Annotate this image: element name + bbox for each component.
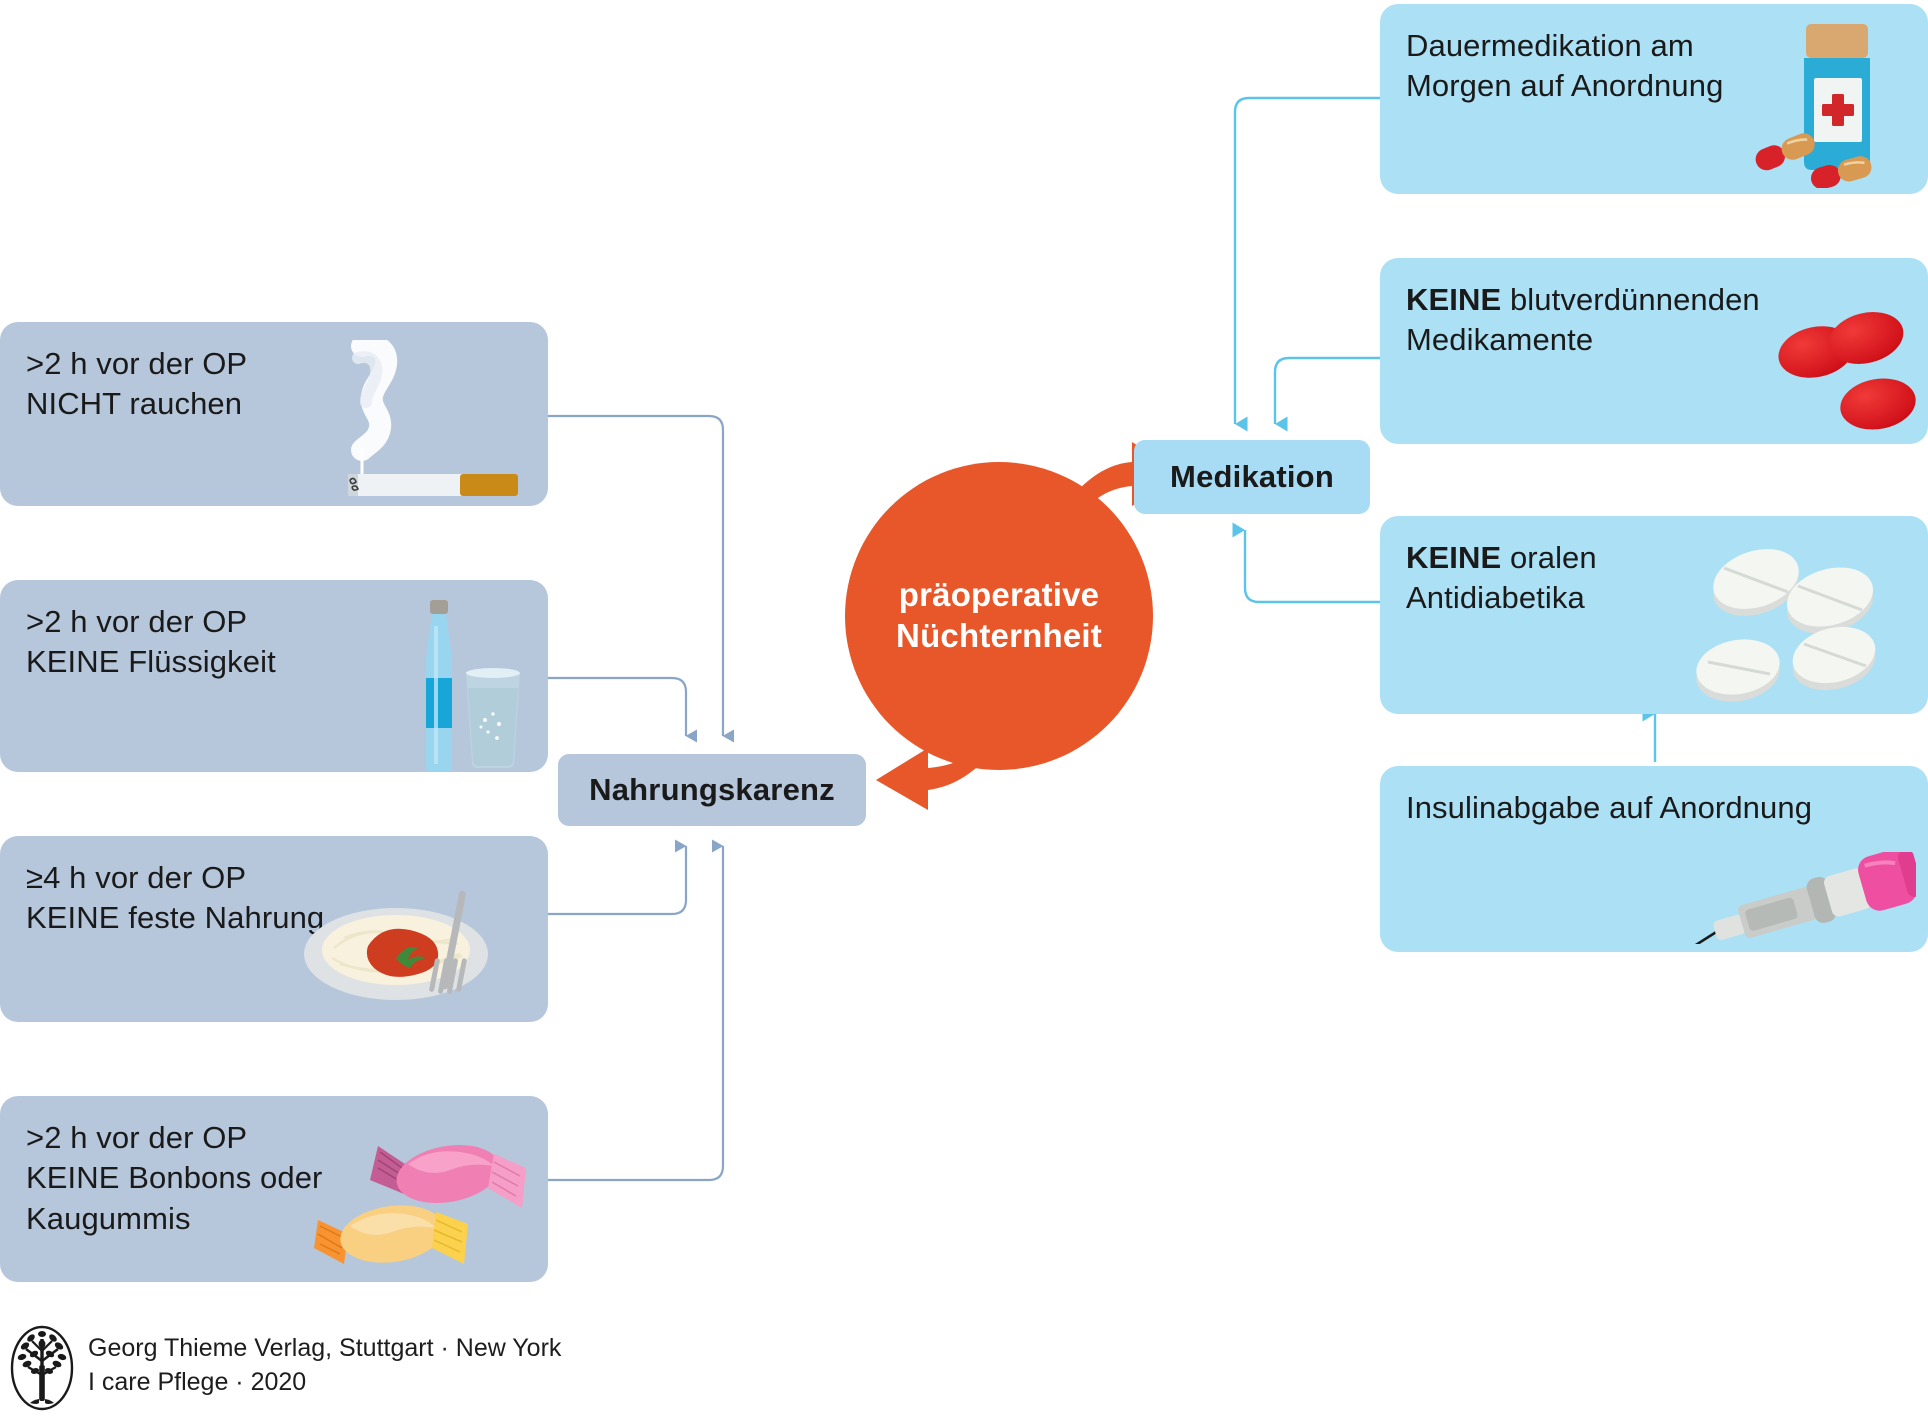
- card-no-liquids[interactable]: >2 h vor der OP KEINE Flüssigkeit: [0, 580, 548, 772]
- thieme-tree-logo: [10, 1325, 74, 1411]
- hub-label: präoperative Nüchternheit: [896, 575, 1102, 657]
- insulin-syringe-icon: [1676, 852, 1916, 944]
- branch-box-nahrungskarenz[interactable]: Nahrungskarenz: [558, 754, 866, 826]
- branch-box-medikation-label: Medikation: [1170, 459, 1334, 495]
- card-no-smoking[interactable]: >2 h vor der OP NICHT rauchen: [0, 322, 548, 506]
- card-no-solid-food[interactable]: ≥4 h vor der OP KEINE feste Nahrung: [0, 836, 548, 1022]
- card-no-solid-food-text: ≥4 h vor der OP KEINE feste Nahrung: [26, 858, 324, 939]
- footer-text: Georg Thieme Verlag, Stuttgart · New Yor…: [88, 1325, 561, 1399]
- card-no-oral-antidiabetics[interactable]: KEINE oralen Antidiabetika: [1380, 516, 1928, 714]
- blood-cells-icon: [1770, 310, 1918, 432]
- card-no-liquids-text: >2 h vor der OP KEINE Flüssigkeit: [26, 602, 276, 683]
- card-no-candy-gum-text: >2 h vor der OP KEINE Bonbons oder Kaugu…: [26, 1118, 322, 1239]
- card-no-candy-gum[interactable]: >2 h vor der OP KEINE Bonbons oder Kaugu…: [0, 1096, 548, 1282]
- card-no-blood-thinners-text: KEINE blutverdünnenden Medikamente: [1406, 280, 1760, 361]
- pill-bottle-icon: [1752, 16, 1918, 188]
- pasta-plate-fork-icon: [300, 862, 516, 1012]
- keine-bold: KEINE: [1406, 540, 1501, 575]
- water-bottle-glass-icon: [380, 596, 548, 774]
- footer: Georg Thieme Verlag, Stuttgart · New Yor…: [10, 1325, 561, 1411]
- cigarette-icon: [300, 340, 548, 506]
- card-insulin-on-order[interactable]: Insulinabgabe auf Anordnung: [1380, 766, 1928, 952]
- keine-bold: KEINE: [1406, 282, 1501, 317]
- card-daily-medication-text: Dauermedikation am Morgen auf Anordnung: [1406, 26, 1723, 107]
- tablets-icon: [1688, 546, 1906, 706]
- card-no-smoking-text: >2 h vor der OP NICHT rauchen: [26, 344, 247, 425]
- branch-box-nahrungskarenz-label: Nahrungskarenz: [589, 772, 835, 808]
- card-insulin-on-order-text: Insulinabgabe auf Anordnung: [1406, 788, 1812, 828]
- branch-box-medikation[interactable]: Medikation: [1134, 440, 1370, 514]
- card-daily-medication[interactable]: Dauermedikation am Morgen auf Anordnung: [1380, 4, 1928, 194]
- card-no-blood-thinners[interactable]: KEINE blutverdünnenden Medikamente: [1380, 258, 1928, 444]
- card-no-oral-antidiabetics-text: KEINE oralen Antidiabetika: [1406, 538, 1597, 619]
- hub-circle: präoperative Nüchternheit: [845, 462, 1153, 770]
- candy-icon: [312, 1116, 542, 1274]
- diagram-canvas: >2 h vor der OP NICHT rauchen >2 h vor d…: [0, 0, 1928, 1422]
